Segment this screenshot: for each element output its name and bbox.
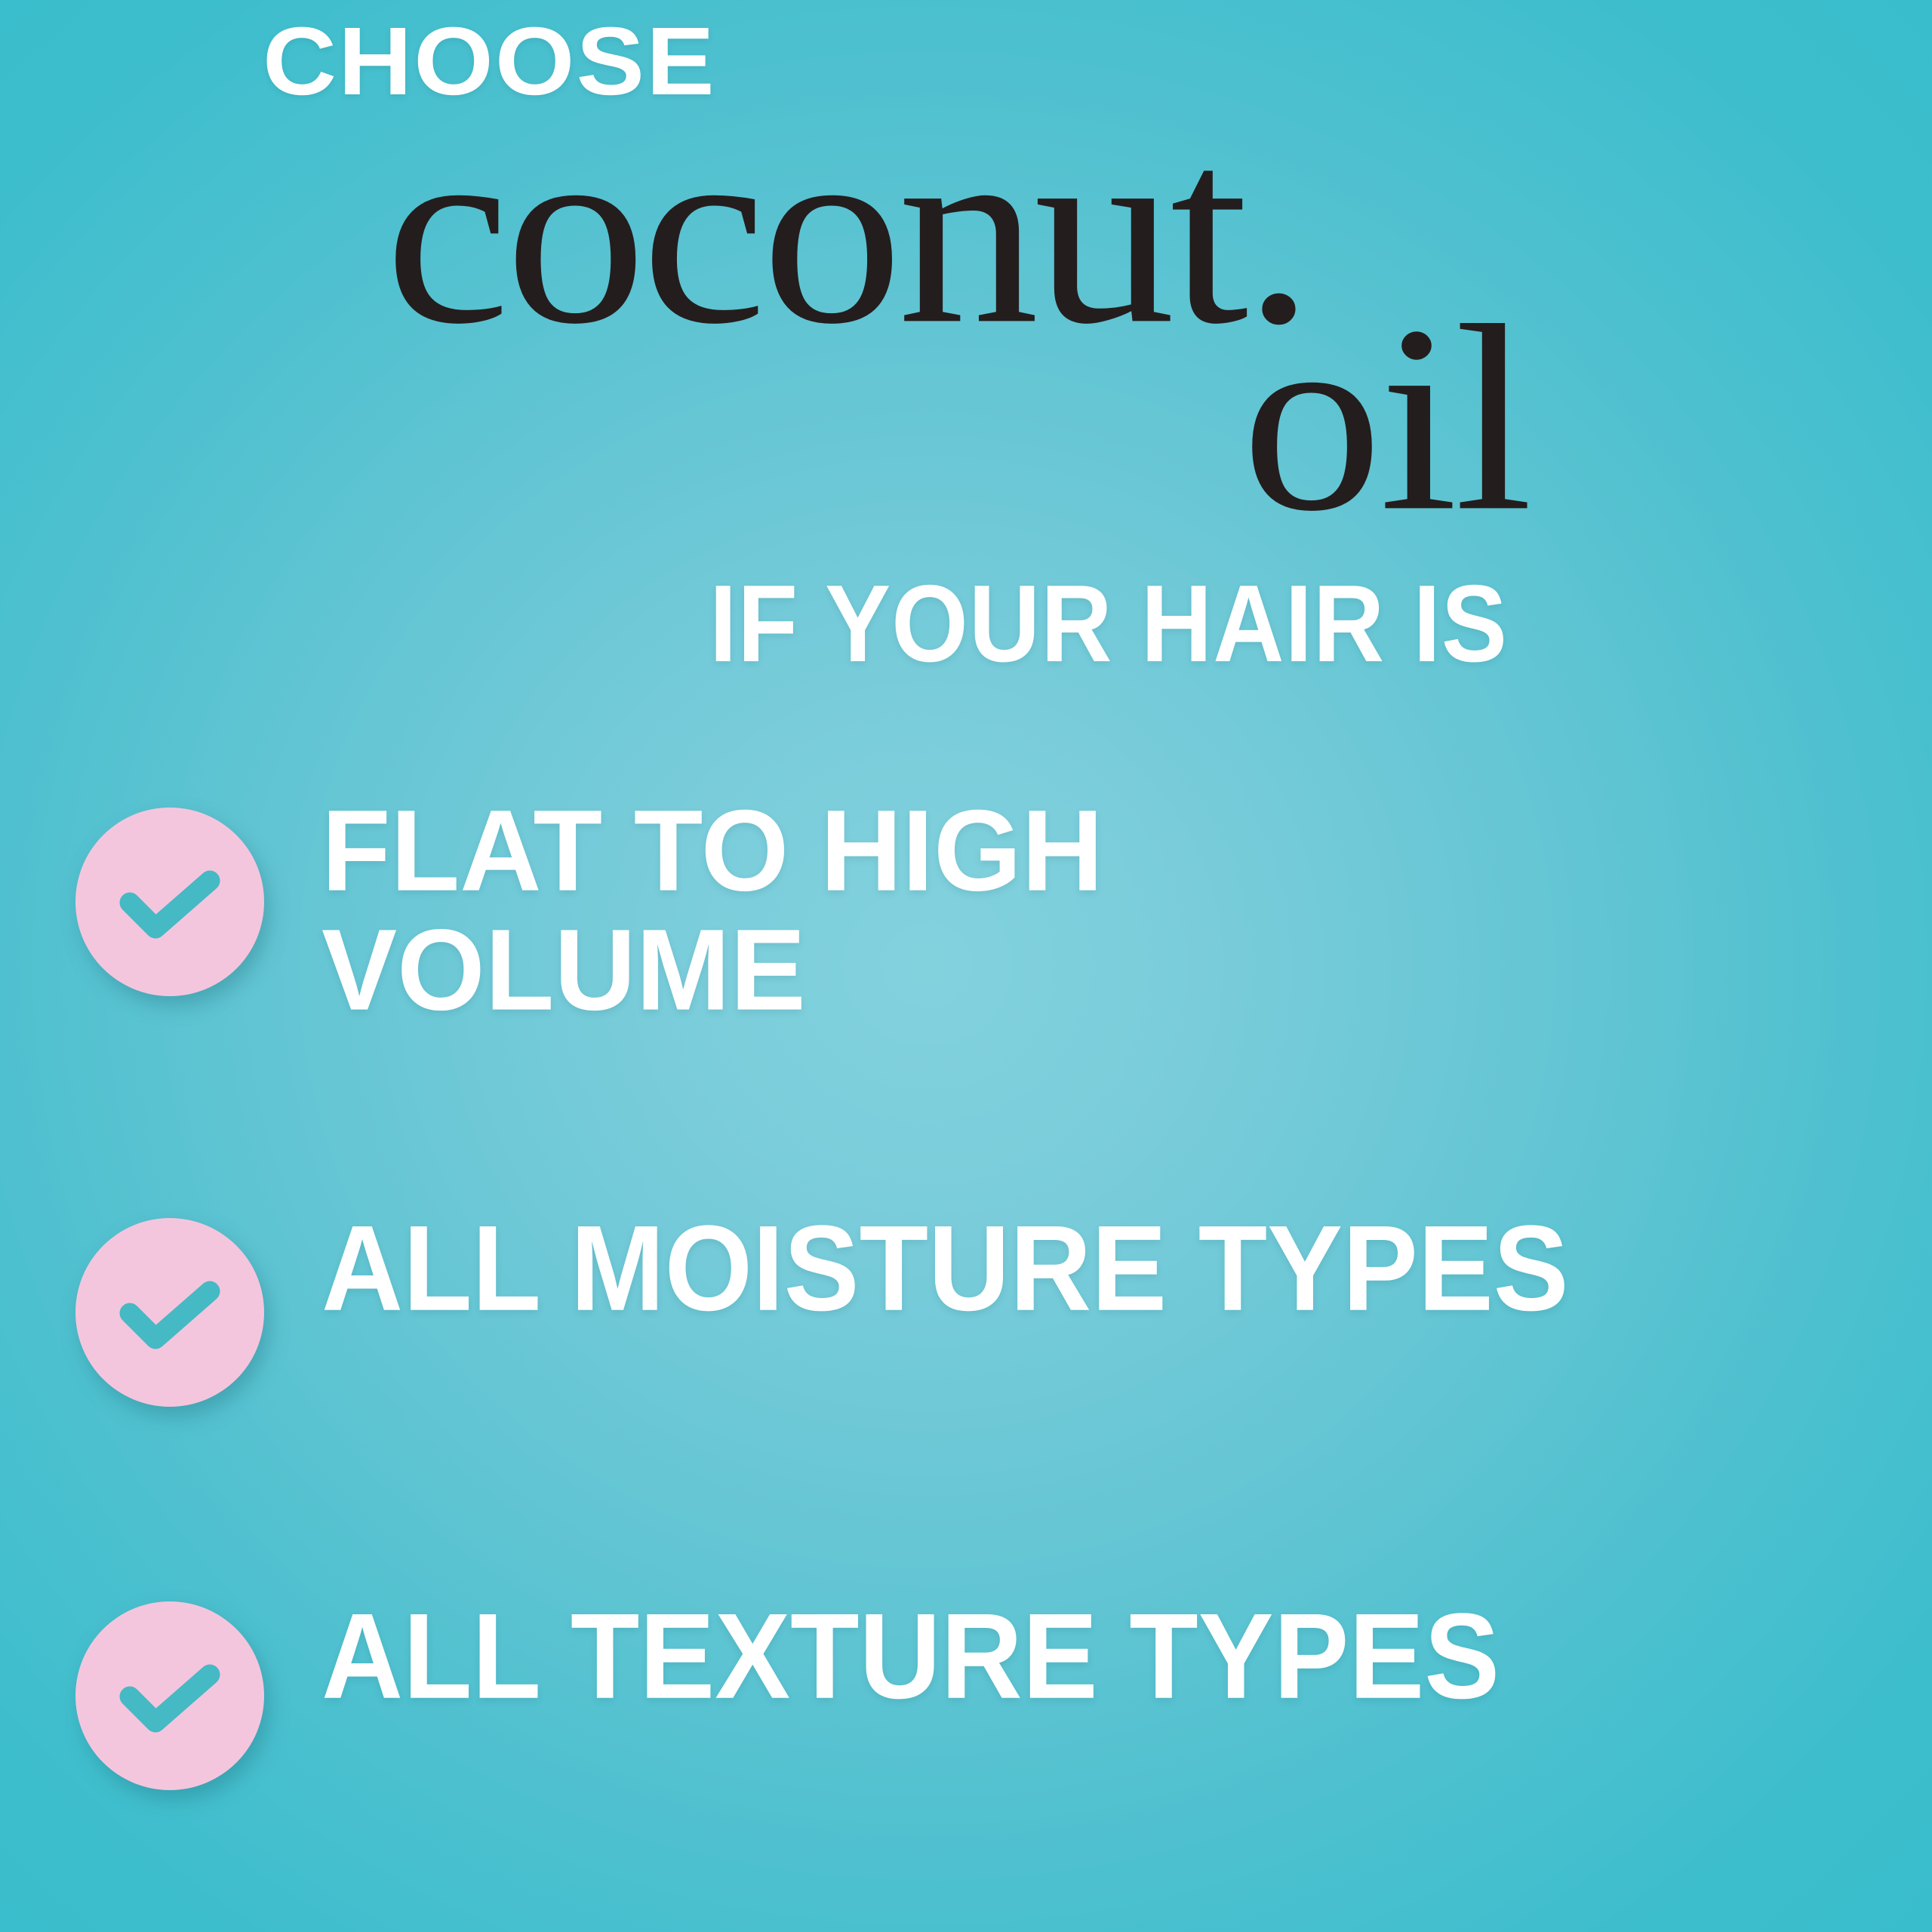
list-item: FLAT TO HIGH VOLUME xyxy=(0,791,1932,1024)
list-item: ALL TEXTURE TYPES xyxy=(0,1594,1932,1790)
check-icon xyxy=(75,1601,264,1790)
list-item: ALL MOISTURE TYPES xyxy=(0,1206,1932,1407)
list-item-label: ALL MOISTURE TYPES xyxy=(321,1206,1908,1331)
list-item-label: ALL TEXTURE TYPES xyxy=(321,1594,1908,1719)
check-icon xyxy=(75,1218,264,1407)
promotional-poster: CHOOSE coconut. oil IF YOUR HAIR IS FLAT… xyxy=(0,0,1932,1932)
check-icon xyxy=(75,808,264,996)
benefits-list: FLAT TO HIGH VOLUME ALL MOISTURE TYPES A… xyxy=(0,0,1932,1932)
list-item-label: FLAT TO HIGH VOLUME xyxy=(321,791,1932,1029)
